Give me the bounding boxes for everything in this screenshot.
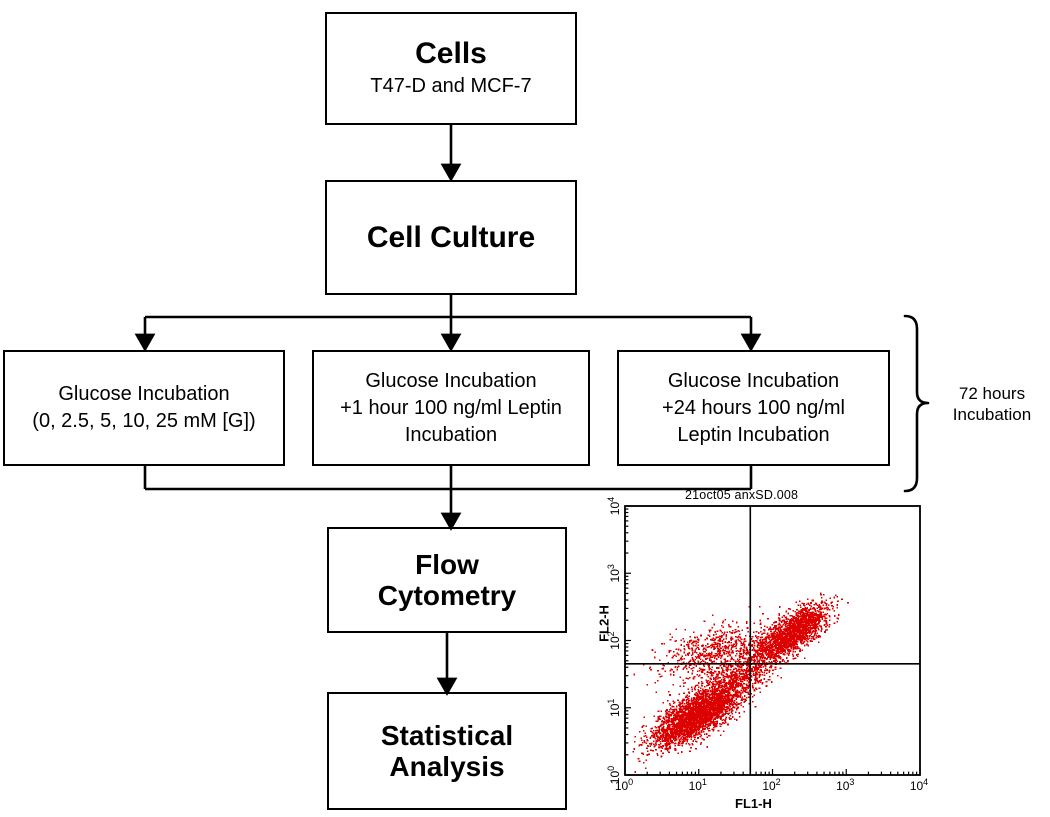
- box-glucose-leptin-24h-line3: Leptin Incubation: [677, 422, 829, 449]
- box-glucose-only: Glucose Incubation (0, 2.5, 5, 10, 25 mM…: [3, 350, 285, 466]
- svg-text:104: 104: [910, 777, 928, 793]
- box-glucose-only-line1: Glucose Incubation: [58, 381, 229, 408]
- box-glucose-leptin-1h-line3: Incubation: [405, 422, 497, 449]
- brace-label-line1: 72 hours: [936, 383, 1048, 404]
- box-cell-culture-title: Cell Culture: [367, 222, 535, 254]
- box-glucose-leptin-1h-line1: Glucose Incubation: [365, 368, 536, 395]
- box-flow-cytometry: Flow Cytometry: [327, 527, 567, 633]
- box-statistical-analysis-line2: Analysis: [389, 751, 504, 782]
- flowchart-canvas: Cells T47-D and MCF-7 Cell Culture Gluco…: [0, 0, 1050, 817]
- incubation-brace: [905, 316, 928, 491]
- flow-cytometry-plot: 21oct05 anxSD.008 1001011021031041001011…: [585, 488, 945, 813]
- box-flow-cytometry-line2: Cytometry: [378, 580, 516, 611]
- svg-text:101: 101: [606, 699, 622, 717]
- svg-text:104: 104: [606, 497, 622, 515]
- svg-text:103: 103: [836, 777, 854, 793]
- x-axis-label: FL1-H: [735, 796, 772, 811]
- box-glucose-leptin-1h: Glucose Incubation +1 hour 100 ng/ml Lep…: [312, 350, 590, 466]
- box-cells-subtitle: T47-D and MCF-7: [370, 73, 531, 99]
- scatter-canvas: 100101102103104100101102103104: [585, 488, 945, 813]
- box-glucose-leptin-1h-line2: +1 hour 100 ng/ml Leptin: [340, 395, 562, 422]
- svg-text:102: 102: [762, 777, 780, 793]
- box-glucose-leptin-24h-line2: +24 hours 100 ng/ml: [662, 395, 845, 422]
- svg-text:103: 103: [606, 564, 622, 582]
- box-cells: Cells T47-D and MCF-7: [325, 12, 577, 125]
- svg-text:100: 100: [606, 766, 622, 784]
- box-glucose-only-line2: (0, 2.5, 5, 10, 25 mM [G]): [32, 408, 255, 435]
- box-flow-cytometry-line1: Flow: [415, 549, 479, 580]
- box-statistical-analysis-line1: Statistical: [381, 720, 513, 751]
- brace-label-line2: Incubation: [936, 404, 1048, 425]
- brace-label: 72 hours Incubation: [936, 383, 1048, 426]
- box-cells-title: Cells: [415, 38, 487, 70]
- box-statistical-analysis: Statistical Analysis: [327, 692, 567, 810]
- box-glucose-leptin-24h: Glucose Incubation +24 hours 100 ng/ml L…: [617, 350, 890, 466]
- box-cell-culture: Cell Culture: [325, 180, 577, 295]
- svg-text:101: 101: [689, 777, 707, 793]
- y-axis-label: FL2-H: [597, 594, 612, 654]
- box-glucose-leptin-24h-line1: Glucose Incubation: [668, 368, 839, 395]
